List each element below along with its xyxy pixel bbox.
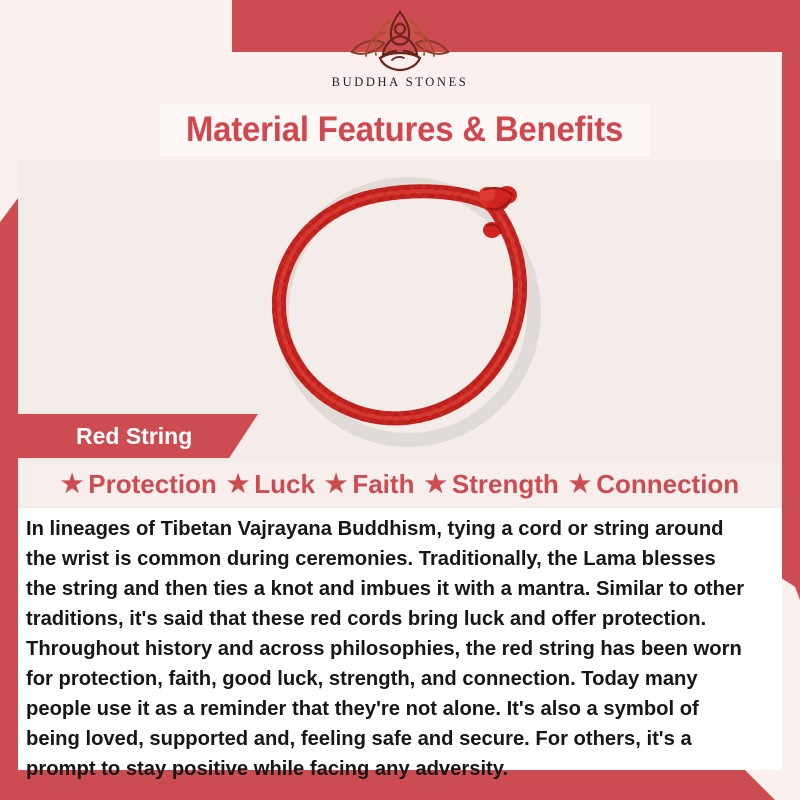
benefit-label: Protection [88,469,217,500]
decor-left-strip [0,198,18,800]
page-title: Material Features & Benefits [186,110,623,150]
star-icon: ★ [227,472,249,497]
benefit-label: Connection [596,469,739,500]
benefit-item: ★ Luck [227,469,315,500]
material-name: Red String [76,423,192,450]
brand-logo: BUDDHA STONES [0,8,800,90]
infographic-page: BUDDHA STONES Material Features & Benefi… [0,0,800,800]
star-icon: ★ [569,472,591,497]
benefit-label: Strength [452,469,559,500]
star-icon: ★ [61,472,83,497]
star-icon: ★ [424,472,446,497]
page-header: BUDDHA STONES [0,0,800,100]
description-text: In lineages of Tibetan Vajrayana Buddhis… [26,514,749,784]
benefit-item: ★ Strength [424,469,558,500]
star-icon: ★ [325,472,347,497]
description-panel: In lineages of Tibetan Vajrayana Buddhis… [18,508,782,770]
benefit-item: ★ Protection [61,469,217,500]
lotus-meditation-icon [340,8,460,74]
benefit-item: ★ Faith [325,469,415,500]
benefit-item: ★ Connection [569,469,739,500]
title-band: Material Features & Benefits [160,104,650,156]
benefit-label: Luck [254,469,315,500]
benefits-list: ★ Protection ★ Luck ★ Faith ★ Strength ★… [18,462,782,506]
material-banner: Red String [18,414,258,458]
benefit-label: Faith [352,469,414,500]
red-braided-string-bracelet [263,160,553,455]
brand-name: BUDDHA STONES [332,75,469,90]
